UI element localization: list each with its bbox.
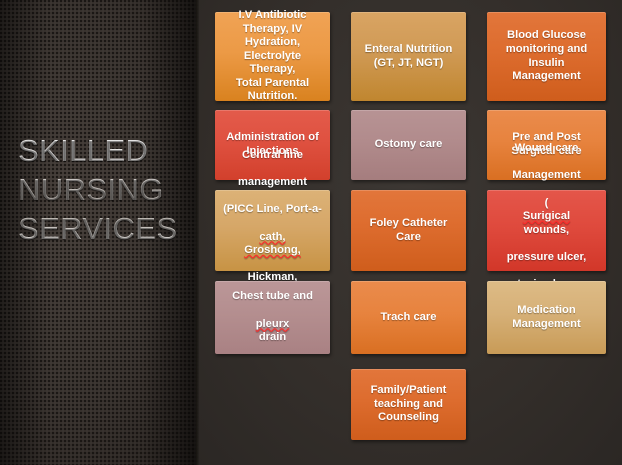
service-box-chest-tube-and-pleurx-drain[interactable]: Chest tube andpleurx drain xyxy=(215,281,330,354)
wound-care-l4: pressure ulcer, xyxy=(507,251,587,265)
service-box-central-line-management[interactable]: Central linemanagement(PICC Line, Port-a… xyxy=(215,190,330,271)
service-box-label: Foley Catheter Care xyxy=(370,217,448,244)
service-box-ostomy-care[interactable]: Ostomy care xyxy=(351,110,466,180)
service-box-wound-care-management[interactable]: Wound careManagement(Surigical wounds,pr… xyxy=(487,190,606,271)
service-box-label: Trach care xyxy=(381,311,437,325)
wound-care-l3b: wounds, xyxy=(507,224,587,238)
wound-care-l1: Wound care xyxy=(507,142,587,156)
wound-care-l2: Management xyxy=(507,169,587,183)
slide-canvas: SKILLED NURSING SERVICES I.V Antibiotic … xyxy=(0,0,622,465)
service-box-label: I.V Antibiotic Therapy, IV Hydration, El… xyxy=(221,9,324,104)
page-title: SKILLED NURSING SERVICES xyxy=(18,131,190,248)
service-box-label: Blood Glucose monitoring and Insulin Man… xyxy=(506,29,587,83)
wound-care-l3a: ( xyxy=(507,197,587,211)
service-box-label: Family/Patient teaching and Counseling xyxy=(371,384,447,425)
service-box-label: Ostomy care xyxy=(375,138,443,152)
service-box-trach-care[interactable]: Trach care xyxy=(351,281,466,354)
service-box-blood-glucose-monitoring[interactable]: Blood Glucose monitoring and Insulin Man… xyxy=(487,12,606,101)
service-box-foley-catheter-care[interactable]: Foley Catheter Care xyxy=(351,190,466,271)
service-box-label: Enteral Nutrition (GT, JT, NGT) xyxy=(365,43,453,70)
service-box-label: Chest tube andpleurx drain xyxy=(232,290,313,344)
service-box-iv-antibiotic-therapy[interactable]: I.V Antibiotic Therapy, IV Hydration, El… xyxy=(215,12,330,101)
service-box-medication-management[interactable]: Medication Management xyxy=(487,281,606,354)
chest-tube-l2b: drain xyxy=(232,331,313,345)
central-line-l2: management xyxy=(223,176,322,190)
service-box-label: Medication Management xyxy=(512,304,580,331)
central-line-l1: Central line xyxy=(223,149,322,163)
misspelled-word-cath: cath, xyxy=(223,231,322,245)
service-box-enteral-nutrition[interactable]: Enteral Nutrition (GT, JT, NGT) xyxy=(351,12,466,101)
service-box-family-patient-teaching[interactable]: Family/Patient teaching and Counseling xyxy=(351,369,466,440)
misspelled-word-groshong: Groshong, xyxy=(223,244,322,258)
panel-divider xyxy=(196,0,199,465)
central-line-l3: (PICC Line, Port-a- xyxy=(223,203,322,217)
misspelled-word-pleurx: pleurx xyxy=(232,318,313,332)
chest-tube-l1: Chest tube and xyxy=(232,290,313,304)
title-panel: SKILLED NURSING SERVICES xyxy=(0,0,199,465)
misspelled-word-surigical: Surigical xyxy=(507,210,587,224)
